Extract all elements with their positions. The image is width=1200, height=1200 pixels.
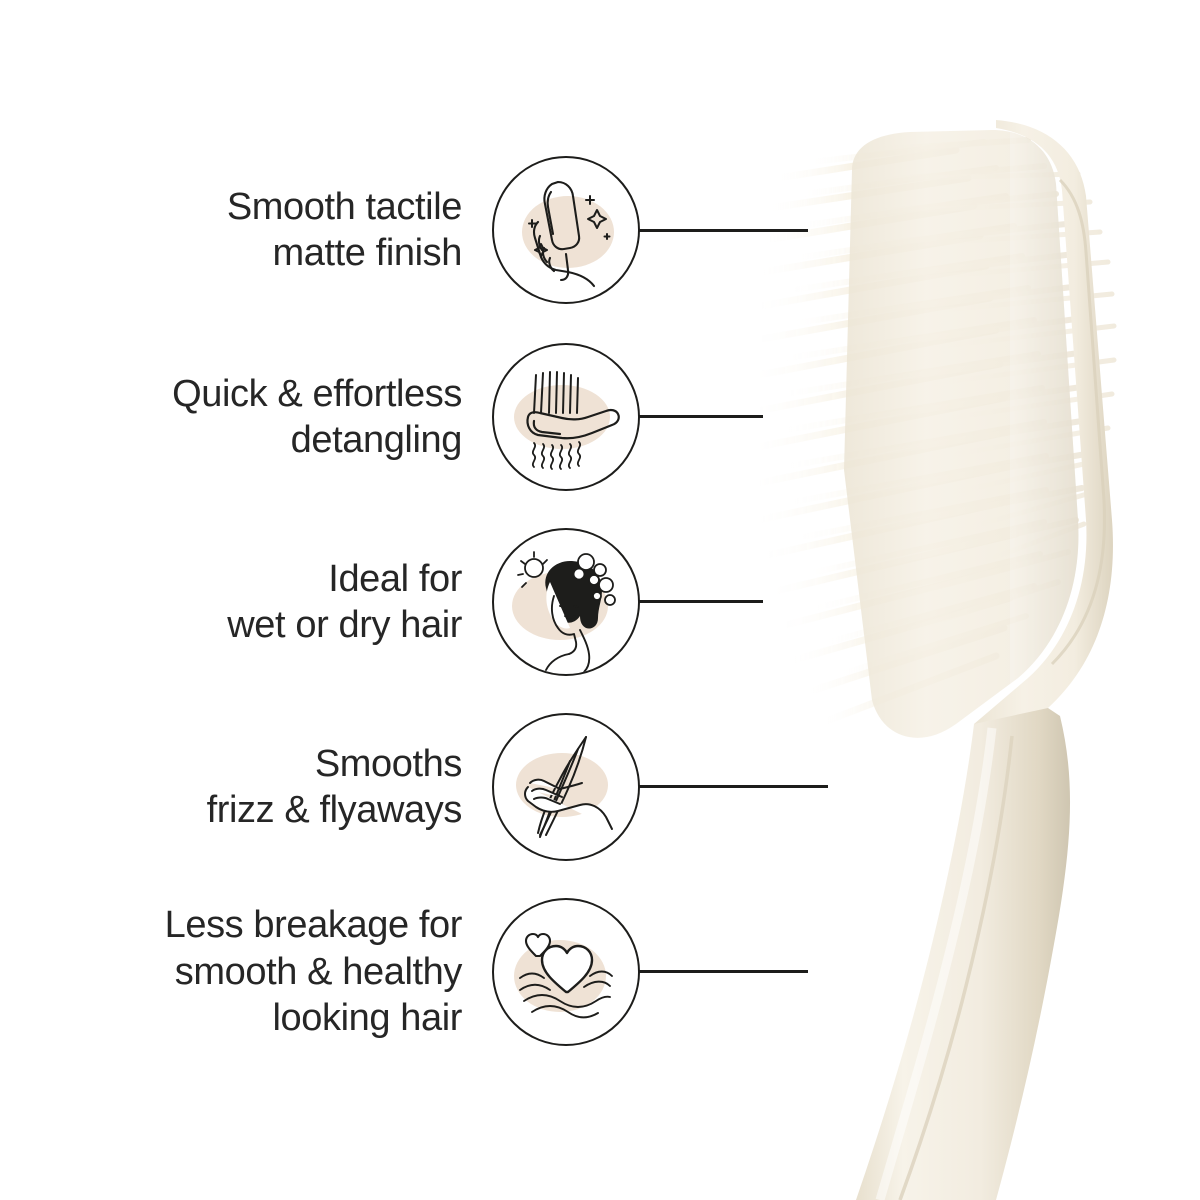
woman-washing-hair-icon <box>492 528 640 676</box>
product-image-hair-brush <box>760 0 1200 1200</box>
feature-label: Less breakage for smooth & healthy looki… <box>165 902 492 1041</box>
hand-holding-brush-icon <box>492 156 640 304</box>
feature-label: Smooth tactile matte finish <box>227 184 492 277</box>
hand-smoothing-hair-icon <box>492 713 640 861</box>
connector-line-ideal-for-wet-or-dry-hair <box>620 600 763 603</box>
connector-line-quick-effortless-detangling <box>620 415 763 418</box>
infographic-canvas: Smooth tactile matte finish <box>0 0 1200 1200</box>
brush-detangling-hair-icon <box>492 343 640 491</box>
feature-row-smooth-tactile-matte-finish: Smooth tactile matte finish <box>0 158 640 302</box>
feature-row-smooths-frizz-flyaways: Smooths frizz & flyaways <box>0 715 640 859</box>
feature-label: Quick & effortless detangling <box>172 371 492 464</box>
hearts-over-waves-icon <box>492 898 640 1046</box>
connector-line-smooths-frizz-flyaways <box>620 785 828 788</box>
connector-line-smooth-tactile-matte-finish <box>620 229 808 232</box>
feature-row-ideal-for-wet-or-dry-hair: Ideal for wet or dry hair <box>0 530 640 674</box>
feature-row-quick-effortless-detangling: Quick & effortless detangling <box>0 345 640 489</box>
feature-label: Smooths frizz & flyaways <box>207 741 492 834</box>
connector-line-less-breakage-healthy-hair <box>620 970 808 973</box>
feature-row-less-breakage-healthy-hair: Less breakage for smooth & healthy looki… <box>0 900 640 1044</box>
brush-handle <box>856 708 1070 1200</box>
feature-label: Ideal for wet or dry hair <box>227 556 492 649</box>
